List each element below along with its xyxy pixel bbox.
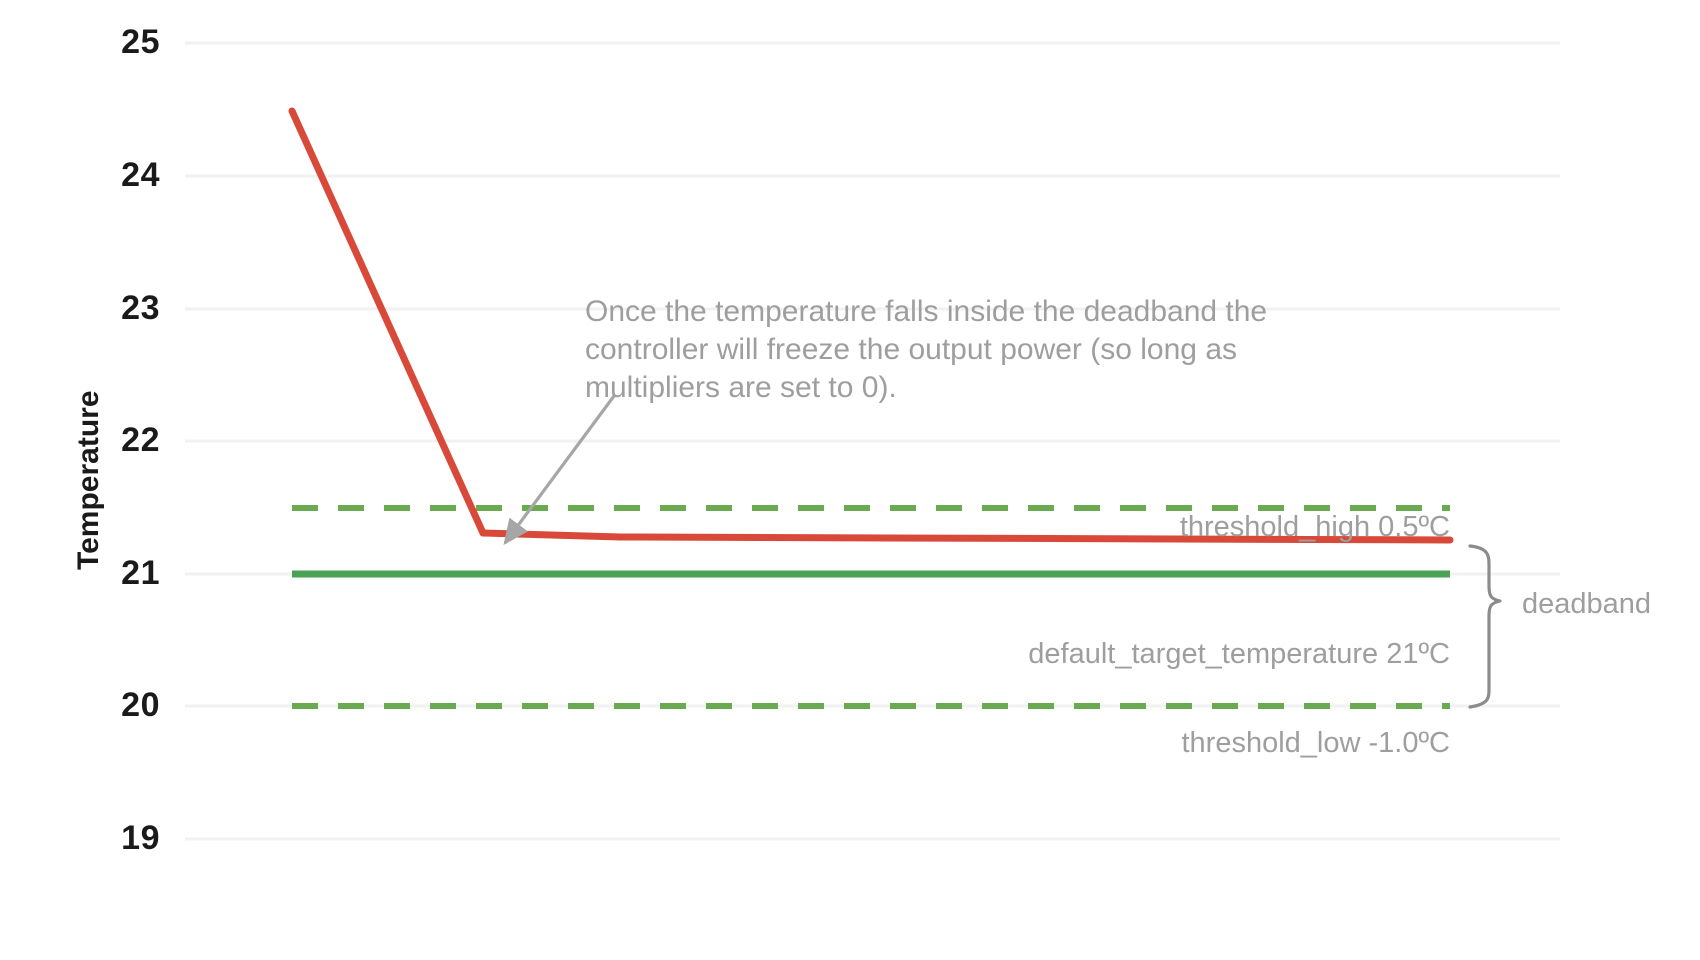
y-tick-label-22: 22 bbox=[40, 421, 160, 460]
temperature-deadband-chart: Temperature 25 24 23 22 21 20 19 Once th… bbox=[0, 0, 1700, 960]
y-tick-label-21: 21 bbox=[40, 554, 160, 593]
chart-canvas bbox=[0, 0, 1700, 960]
annotation-line-3: multipliers are set to 0). bbox=[585, 369, 897, 407]
threshold-low-label: threshold_low -1.0ºC bbox=[640, 727, 1450, 760]
annotation-arrow bbox=[505, 396, 614, 543]
y-tick-label-25: 25 bbox=[40, 23, 160, 62]
default-target-temperature-label: default_target_temperature 21ºC bbox=[640, 638, 1450, 671]
gridlines bbox=[185, 43, 1560, 839]
y-tick-label-24: 24 bbox=[40, 156, 160, 195]
y-tick-label-20: 20 bbox=[40, 686, 160, 725]
threshold-high-label: threshold_high 0.5ºC bbox=[640, 511, 1450, 544]
y-tick-label-23: 23 bbox=[40, 289, 160, 328]
deadband-brace bbox=[1470, 546, 1500, 707]
annotation-line-2: controller will freeze the output power … bbox=[585, 331, 1237, 369]
y-tick-label-19: 19 bbox=[40, 819, 160, 858]
deadband-label: deadband bbox=[1522, 588, 1651, 621]
annotation-line-1: Once the temperature falls inside the de… bbox=[585, 293, 1267, 331]
y-axis-title: Temperature bbox=[72, 390, 106, 570]
